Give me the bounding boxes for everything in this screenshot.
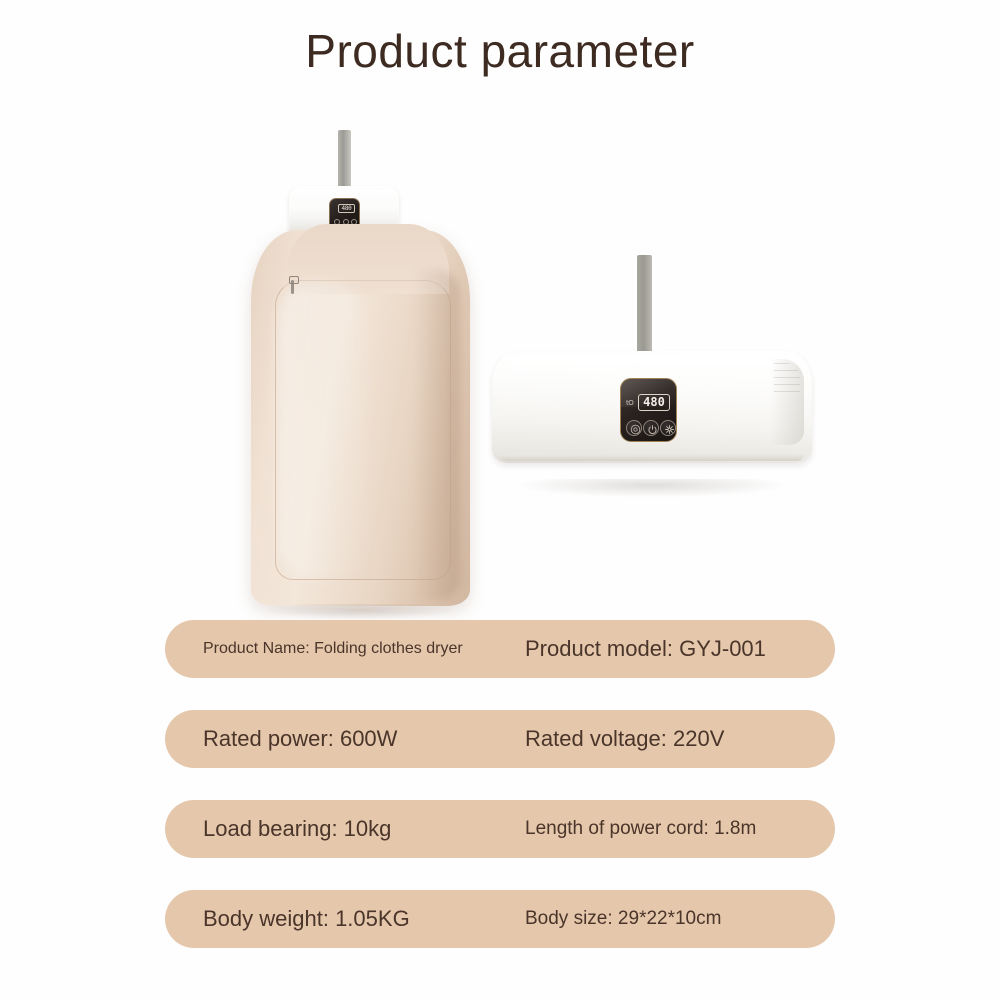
zipper-pull-icon [291,280,294,294]
dryer-fabric-body [243,230,478,610]
page-title: Product parameter [0,24,1000,78]
power-icon [643,420,659,436]
parameter-rated-voltage: Rated voltage: 220V [525,726,724,752]
folded-shell-highlight [510,356,794,378]
product-parameter-page: Product parameter 480 [0,0,1000,1000]
folded-carry-strap [637,255,652,357]
temperature-icon: tO [626,399,633,407]
control-panel: tO 480 [620,378,677,442]
display-readout: 480 [638,394,670,411]
parameter-rated-power: Rated power: 600W [203,726,397,752]
folded-shell: tO 480 [492,351,812,463]
parameter-row: Product Name: Folding clothes dryer Prod… [165,620,835,678]
product-image-folded: tO 480 [492,255,812,485]
parameter-load-bearing: Load bearing: 10kg [203,816,391,842]
head-unit-highlight [295,190,393,198]
control-button-row [626,420,674,438]
parameter-body-size: Body size: 29*22*10cm [525,908,721,930]
fabric-shell [251,230,470,606]
display-readout-small: 480 [338,204,355,213]
parameter-power-cord-length: Length of power cord: 1.8m [525,818,756,840]
product-image-unfolded: 480 [243,130,478,610]
parameter-row: Load bearing: 10kg Length of power cord:… [165,800,835,858]
parameter-row: Body weight: 1.05KG Body size: 29*22*10c… [165,890,835,948]
parameter-row: Rated power: 600W Rated voltage: 220V [165,710,835,768]
hanging-strap [338,130,351,188]
folded-drop-shadow [518,479,786,497]
parameter-product-name: Product Name: Folding clothes dryer [203,640,463,658]
product-image-stage: 480 [0,110,1000,610]
fan-icon [660,420,676,436]
zipper-panel-outline [275,280,451,580]
timer-icon [626,420,642,436]
folded-shell-seam-lines [774,363,800,393]
parameter-body-weight: Body weight: 1.05KG [203,906,410,932]
parameter-product-model: Product model: GYJ-001 [525,636,766,662]
parameter-list: Product Name: Folding clothes dryer Prod… [165,620,835,948]
folded-base-rim [500,454,804,461]
fabric-drop-shadow [267,604,455,620]
